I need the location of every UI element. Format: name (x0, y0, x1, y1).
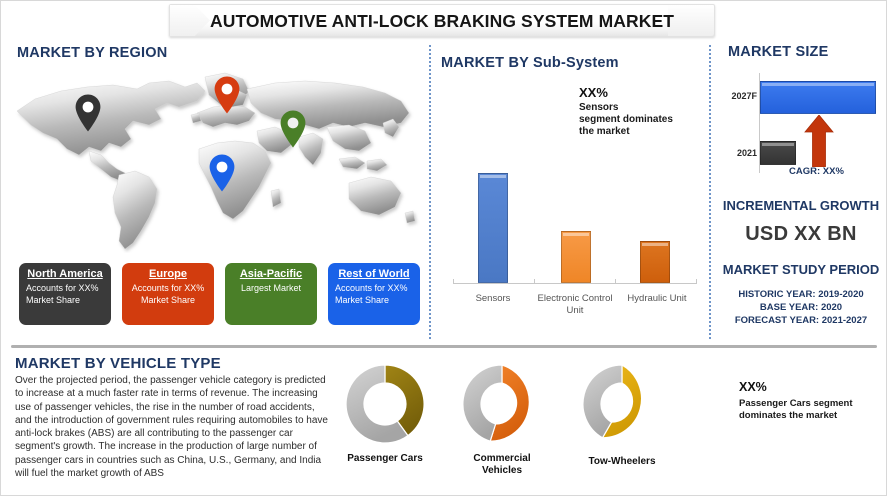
divider-horizontal (11, 345, 877, 348)
bar-chart-labels: Sensors Electronic Control Unit Hydrauli… (453, 287, 697, 323)
bar-label-sensors: Sensors (453, 293, 533, 305)
section-heading-market-by-region: MARKET BY REGION (17, 45, 167, 61)
divider-right-vertical (709, 45, 711, 339)
section-heading-market-by-vehicle-type: MARKET BY VEHICLE TYPE (15, 355, 221, 372)
divider-left-vertical (429, 45, 431, 339)
market-size-bar-2027 (760, 81, 876, 114)
market-size-label-2027: 2027F (721, 91, 757, 101)
study-period-forecast: FORECAST YEAR: 2021-2027 (715, 314, 887, 328)
market-size-chart: 2027F 2021 CAGR: XX% (721, 73, 881, 175)
vehicle-type-callout-percent: XX% (739, 380, 767, 394)
donut-label-passenger-cars: Passenger Cars (325, 453, 445, 465)
section-heading-market-by-subsystem: MARKET BY Sub-System (441, 55, 619, 71)
bar-electronic-control-unit (561, 231, 591, 283)
study-period-historic: HISTORIC YEAR: 2019-2020 (715, 288, 887, 302)
market-size-label-2021: 2021 (721, 148, 757, 158)
donut-commercial-vehicles (459, 361, 545, 447)
region-card-rest-of-world[interactable]: Rest of World Accounts for XX% Market Sh… (328, 263, 420, 325)
section-heading-market-size: MARKET SIZE (728, 44, 828, 60)
subsystem-callout-line1: Sensors (579, 102, 618, 115)
map-pin-rest-of-world[interactable] (207, 153, 237, 193)
infographic-root: AUTOMOTIVE ANTI-LOCK BRAKING SYSTEM MARK… (0, 0, 887, 496)
growth-arrow-icon (804, 115, 834, 167)
region-card-asia-pacific[interactable]: Asia-Pacific Largest Market (225, 263, 317, 325)
vehicle-type-paragraph: Over the projected period, the passenger… (15, 374, 331, 480)
market-size-bar-2021 (760, 141, 796, 165)
bar-chart-tick (534, 279, 535, 284)
study-period-base: BASE YEAR: 2020 (715, 301, 887, 315)
donut-tow-wheelers (579, 361, 665, 447)
subsystem-callout-line2: segment dominates (579, 114, 673, 127)
vehicle-type-callout-line2: dominates the market (739, 410, 837, 423)
subsystem-callout-line3: the market (579, 126, 630, 139)
region-card-name: Europe (128, 268, 208, 281)
region-card-line1: Accounts for XX% (25, 283, 105, 295)
title-banner: AUTOMOTIVE ANTI-LOCK BRAKING SYSTEM MARK… (169, 4, 715, 37)
vehicle-type-callout-line1: Passenger Cars segment (739, 398, 853, 411)
bar-hydraulic-unit (640, 241, 670, 283)
region-card-line1: Largest Market (231, 283, 311, 295)
map-pin-europe[interactable] (212, 75, 242, 115)
map-pin-north-america[interactable] (73, 93, 103, 133)
bar-chart-axis (453, 283, 697, 284)
section-heading-incremental-growth: INCREMENTAL GROWTH (715, 198, 887, 213)
page-title: AUTOMOTIVE ANTI-LOCK BRAKING SYSTEM MARK… (170, 5, 714, 38)
region-card-name: Asia-Pacific (231, 268, 311, 281)
region-card-line2: Market Share (334, 295, 414, 307)
region-card-name: Rest of World (334, 268, 414, 281)
region-card-line2: Market Share (25, 295, 105, 307)
subsystem-callout-percent: XX% (579, 85, 608, 100)
donut-label-tow-wheelers: Tow-Wheelers (562, 456, 682, 468)
bar-label-electronic-control-unit: Electronic Control Unit (536, 293, 614, 317)
region-card-north-america[interactable]: North America Accounts for XX% Market Sh… (19, 263, 111, 325)
bar-label-hydraulic-unit: Hydraulic Unit (617, 293, 697, 305)
region-card-line1: Accounts for XX% (128, 283, 208, 295)
incremental-growth-value: USD XX BN (715, 223, 887, 246)
section-heading-market-study-period: MARKET STUDY PERIOD (715, 262, 887, 277)
subsystem-bar-chart: Sensors Electronic Control Unit Hydrauli… (453, 169, 697, 284)
donut-passenger-cars (342, 361, 428, 447)
region-card-line2: Market Share (128, 295, 208, 307)
bar-chart-tick (615, 279, 616, 284)
bar-sensors (478, 173, 508, 283)
cagr-label: CAGR: XX% (789, 166, 844, 177)
donut-label-commercial-line1: Commercial (442, 453, 562, 465)
region-card-line1: Accounts for XX% (334, 283, 414, 295)
region-card-europe[interactable]: Europe Accounts for XX% Market Share (122, 263, 214, 325)
map-pin-asia-pacific[interactable] (278, 109, 308, 149)
donut-label-commercial-line2: Vehicles (442, 465, 562, 477)
region-card-name: North America (25, 268, 105, 281)
